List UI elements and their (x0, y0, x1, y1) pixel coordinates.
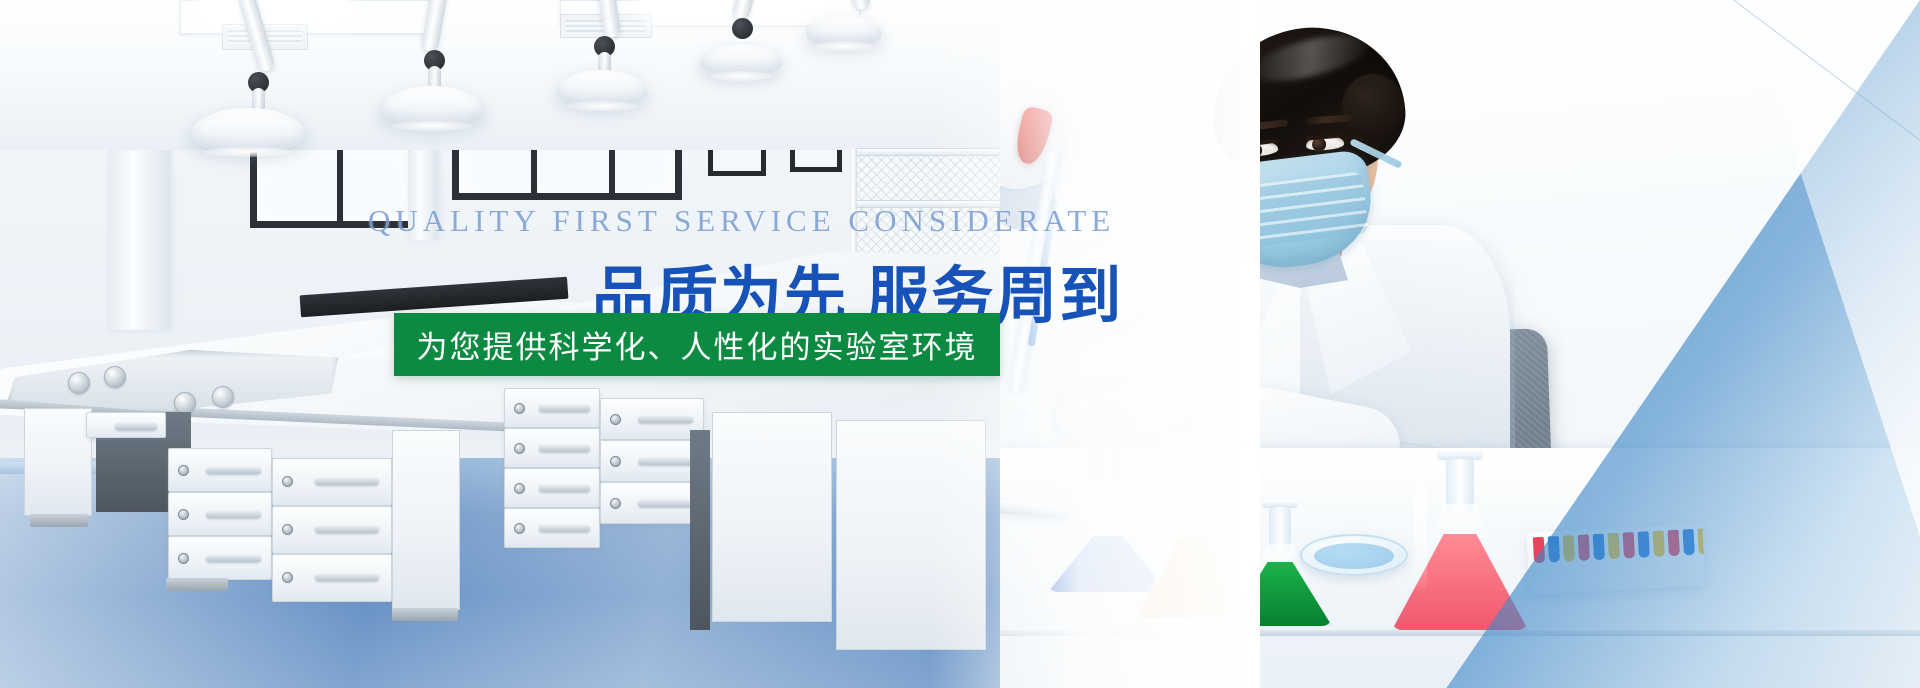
banner-text-overlay: QUALITY FIRST SERVICE CONSIDERATE 品质为先 服… (0, 0, 1920, 688)
banner-ribbon-text: 为您提供科学化、人性化的实验室环境 (417, 322, 978, 367)
banner-eyebrow-english: QUALITY FIRST SERVICE CONSIDERATE (368, 203, 1188, 239)
hero-banner[interactable]: QUALITY FIRST SERVICE CONSIDERATE 品质为先 服… (0, 0, 1920, 688)
banner-green-ribbon: 为您提供科学化、人性化的实验室环境 (394, 313, 1000, 376)
